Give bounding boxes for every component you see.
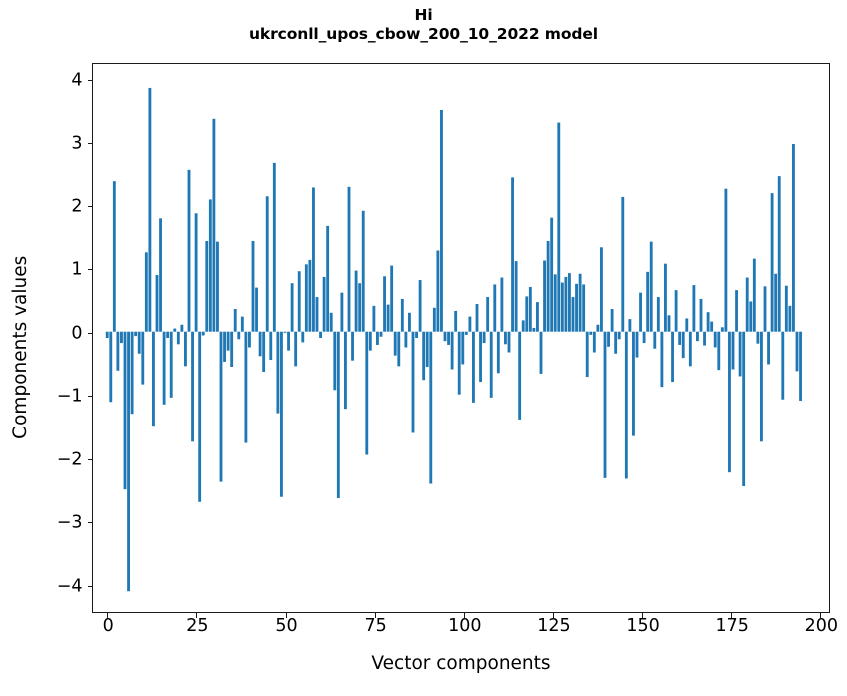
bar	[788, 306, 791, 332]
bar	[131, 332, 134, 415]
bar	[678, 332, 681, 345]
bar	[586, 332, 589, 377]
bar	[540, 332, 543, 374]
bar	[319, 332, 322, 338]
bar	[326, 226, 329, 332]
bar	[639, 293, 642, 332]
y-tick-label: 4	[71, 72, 82, 90]
bar	[355, 271, 358, 332]
bar	[632, 332, 635, 436]
bar	[230, 332, 233, 367]
x-tick: 0	[107, 612, 108, 618]
bar	[554, 274, 557, 331]
bar	[515, 261, 518, 332]
bar	[372, 306, 375, 332]
bar	[173, 329, 176, 332]
bar	[511, 177, 514, 331]
bar	[781, 332, 784, 400]
bar	[525, 296, 528, 331]
bar	[792, 144, 795, 332]
bar	[237, 332, 240, 340]
bar	[426, 332, 429, 367]
bar	[550, 218, 553, 332]
bar	[383, 276, 386, 331]
bar	[212, 119, 215, 332]
y-tick: 4	[88, 80, 94, 81]
bar	[724, 189, 727, 332]
x-tick: 50	[286, 612, 287, 618]
x-tick: 175	[731, 612, 732, 618]
bar	[710, 322, 713, 332]
bar	[657, 297, 660, 332]
x-tick-label: 75	[365, 618, 387, 636]
chart-title: Hi ukrconll_upos_cbow_200_10_2022 model	[0, 6, 847, 44]
bar	[692, 285, 695, 332]
bar	[476, 304, 479, 332]
bar	[106, 332, 109, 338]
y-tick-label: 2	[71, 198, 82, 216]
y-tick: −3	[88, 522, 94, 523]
bar	[604, 332, 607, 478]
bar	[653, 332, 656, 349]
bar	[664, 264, 667, 332]
x-tick-label: 50	[275, 618, 297, 636]
x-tick: 150	[642, 612, 643, 618]
x-tick: 75	[375, 612, 376, 618]
bar	[799, 332, 802, 401]
bar	[163, 332, 166, 405]
bar	[159, 218, 162, 331]
bar	[596, 325, 599, 332]
bar	[468, 317, 471, 332]
bar	[408, 313, 411, 332]
bar	[124, 332, 127, 489]
y-tick: 3	[88, 143, 94, 144]
bar	[575, 284, 578, 332]
bar	[273, 163, 276, 332]
bar	[276, 332, 279, 414]
bar	[340, 293, 343, 332]
bars-series	[93, 64, 829, 612]
y-tick-label: −3	[57, 515, 83, 533]
bar	[216, 242, 219, 332]
bar	[753, 259, 756, 332]
bar	[248, 332, 251, 348]
bar	[611, 309, 614, 332]
bar	[344, 332, 347, 409]
x-axis-label: Vector components	[92, 655, 830, 674]
y-tick: −1	[88, 396, 94, 397]
bar	[145, 252, 148, 331]
bar	[600, 247, 603, 331]
bar	[188, 170, 191, 332]
bar	[756, 332, 759, 344]
bar	[415, 332, 418, 338]
bar	[205, 241, 208, 332]
bar	[148, 88, 151, 332]
bar	[280, 332, 283, 497]
bar	[244, 332, 247, 443]
bar	[682, 332, 685, 358]
bar	[316, 297, 319, 332]
bar	[621, 197, 624, 332]
bar	[529, 287, 532, 332]
bar	[536, 302, 539, 332]
bar	[227, 332, 230, 351]
bar	[785, 286, 788, 332]
y-tick-label: 0	[71, 325, 82, 343]
bar	[301, 332, 304, 343]
y-tick-label: −4	[57, 578, 83, 596]
bar	[628, 319, 631, 332]
bar	[714, 332, 717, 348]
bar	[721, 327, 724, 331]
x-tick-label: 100	[448, 618, 481, 636]
bar	[223, 332, 226, 362]
x-tick: 200	[820, 612, 821, 618]
bar	[771, 193, 774, 332]
bar	[465, 332, 468, 335]
bar	[156, 275, 159, 332]
bar	[522, 320, 525, 331]
bar	[696, 332, 699, 341]
x-tick: 125	[553, 612, 554, 618]
bar	[298, 271, 301, 331]
x-tick-label: 150	[626, 618, 659, 636]
bar	[404, 332, 407, 348]
bar	[742, 332, 745, 486]
bar	[184, 332, 187, 367]
bar	[138, 332, 141, 354]
bar	[778, 176, 781, 332]
bar	[387, 305, 390, 332]
bar	[454, 311, 457, 332]
bar	[479, 332, 482, 382]
bar	[703, 332, 706, 346]
bar	[735, 290, 738, 332]
bar	[689, 332, 692, 367]
bar	[369, 332, 372, 351]
bar	[269, 332, 272, 360]
bar	[447, 332, 450, 345]
bar	[209, 199, 212, 331]
bar	[579, 274, 582, 332]
bar	[294, 332, 297, 367]
x-tick-label: 200	[805, 618, 838, 636]
bar	[572, 297, 575, 332]
y-tick: −2	[88, 459, 94, 460]
y-tick-label: 3	[71, 135, 82, 153]
bar	[707, 312, 710, 332]
bar	[472, 332, 475, 403]
bar	[500, 278, 503, 332]
bar	[796, 332, 799, 372]
bar	[646, 272, 649, 332]
x-tick-label: 0	[103, 618, 114, 636]
bar	[497, 332, 500, 374]
y-tick: 2	[88, 206, 94, 207]
bar	[220, 332, 223, 482]
bar	[166, 332, 169, 338]
bar	[675, 290, 678, 332]
bar	[323, 277, 326, 332]
y-axis-label: Components values	[12, 72, 31, 622]
bar	[614, 332, 617, 354]
bar	[291, 283, 294, 332]
bar	[330, 313, 333, 332]
bar	[746, 278, 749, 332]
bar	[593, 332, 596, 353]
bar	[195, 213, 198, 331]
bar	[259, 332, 262, 357]
bar	[109, 332, 112, 403]
bar	[198, 332, 201, 502]
bar	[397, 332, 400, 367]
bar	[451, 332, 454, 370]
bar	[287, 332, 290, 351]
bar	[547, 241, 550, 332]
x-tick: 25	[196, 612, 197, 618]
y-tick-label: −1	[57, 388, 83, 406]
bar	[440, 110, 443, 332]
bar	[700, 299, 703, 332]
y-tick: 0	[88, 333, 94, 334]
bar	[582, 284, 585, 331]
bar	[767, 332, 770, 365]
bar	[284, 332, 287, 333]
bar	[458, 332, 461, 395]
bar	[305, 264, 308, 331]
x-tick: 100	[464, 612, 465, 618]
bar	[764, 286, 767, 331]
bar	[152, 332, 155, 426]
y-tick: −4	[88, 586, 94, 587]
bar	[365, 332, 368, 455]
x-tick-label: 175	[715, 618, 748, 636]
bar	[262, 332, 265, 372]
bar	[493, 284, 496, 331]
bar	[390, 266, 393, 332]
bar	[312, 187, 315, 331]
bar	[504, 332, 507, 345]
bar	[636, 332, 639, 358]
bar	[180, 325, 183, 332]
chart-title-line-2: ukrconll_upos_cbow_200_10_2022 model	[0, 25, 847, 44]
bar	[543, 261, 546, 332]
bar	[134, 332, 137, 336]
bar	[564, 277, 567, 332]
bar	[436, 250, 439, 331]
bar	[376, 332, 379, 345]
bar	[774, 274, 777, 332]
bar	[508, 332, 511, 353]
bar	[170, 332, 173, 398]
bar	[668, 315, 671, 331]
bar	[234, 309, 237, 332]
bar	[650, 242, 653, 332]
bar	[120, 332, 123, 343]
bar	[561, 283, 564, 332]
bar	[380, 332, 383, 337]
bar	[483, 332, 486, 343]
bar	[362, 211, 365, 332]
bar	[308, 260, 311, 332]
bar	[433, 308, 436, 332]
bar	[141, 332, 144, 385]
bar	[518, 332, 521, 420]
bar	[671, 332, 674, 382]
y-tick: 1	[88, 269, 94, 270]
bar	[394, 332, 397, 356]
bar	[568, 273, 571, 332]
bar	[116, 332, 119, 371]
bar	[589, 332, 592, 335]
x-tick-label: 125	[537, 618, 570, 636]
bar	[422, 332, 425, 381]
bar	[739, 332, 742, 377]
bar	[760, 332, 763, 442]
bar	[419, 280, 422, 332]
bar	[412, 332, 415, 433]
bar	[618, 332, 621, 340]
x-tick-label: 25	[186, 618, 208, 636]
bar	[351, 332, 354, 361]
plot-area	[93, 64, 829, 612]
plot-axes: 43210−1−2−3−4 0255075100125150175200	[92, 63, 830, 613]
bar	[127, 332, 130, 592]
bar	[252, 241, 255, 332]
bar	[113, 181, 116, 332]
bar	[557, 123, 560, 332]
bar	[749, 301, 752, 331]
bar	[607, 332, 610, 347]
bar-chart-figure: Hi ukrconll_upos_cbow_200_10_2022 model …	[0, 0, 847, 696]
bar	[401, 299, 404, 332]
bar	[255, 288, 258, 332]
bar	[358, 283, 361, 332]
bar	[429, 332, 432, 484]
bar	[532, 328, 535, 332]
bar	[490, 332, 493, 398]
bar	[202, 332, 205, 336]
bar	[191, 332, 194, 442]
chart-title-line-1: Hi	[0, 6, 847, 25]
bar	[461, 332, 464, 365]
bar	[685, 318, 688, 331]
bar	[348, 187, 351, 332]
bar	[486, 297, 489, 332]
bar	[717, 332, 720, 370]
bar	[177, 332, 180, 345]
bar	[625, 332, 628, 479]
bar	[732, 332, 735, 370]
bar	[333, 332, 336, 391]
y-tick-label: 1	[71, 262, 82, 280]
y-tick-label: −2	[57, 451, 83, 469]
bar	[241, 317, 244, 332]
bar	[660, 332, 663, 387]
bar	[337, 332, 340, 498]
bar	[444, 332, 447, 341]
bar	[643, 332, 646, 343]
bar	[266, 196, 269, 331]
bar	[728, 332, 731, 472]
